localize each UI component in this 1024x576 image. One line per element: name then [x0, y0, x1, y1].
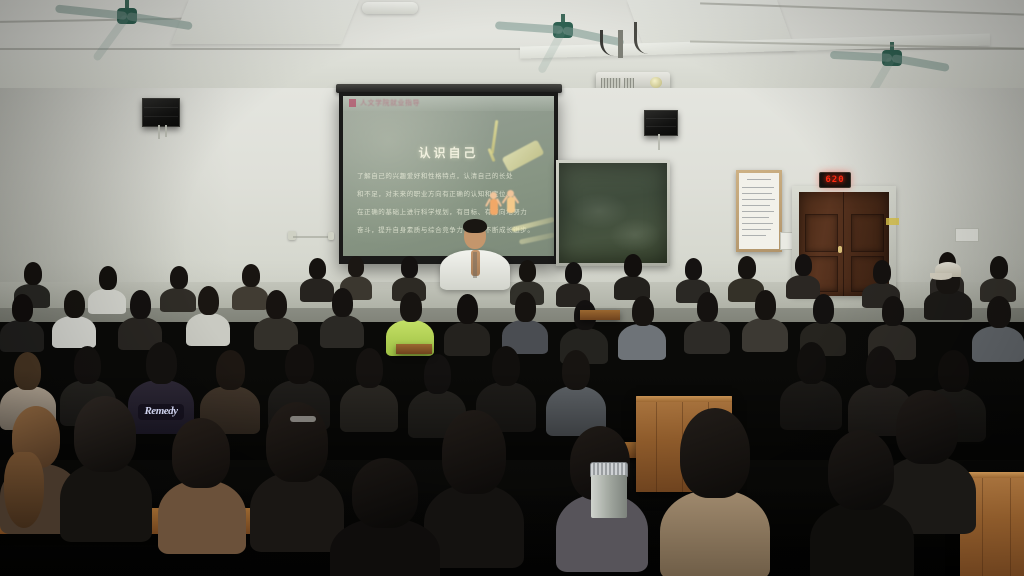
presenter-speaker — [440, 218, 510, 288]
notice-line — [742, 205, 770, 206]
student-white-cap — [924, 262, 972, 314]
thermos-body — [591, 475, 627, 518]
head — [285, 344, 314, 384]
head — [813, 294, 834, 324]
wall-speaker-left — [142, 98, 180, 127]
fan-blade — [891, 54, 950, 72]
torso — [618, 324, 666, 360]
head — [64, 290, 85, 318]
ceiling-fan-left — [62, 0, 192, 34]
led-exit-sign-text: 620 — [825, 175, 844, 185]
door-panel — [851, 214, 884, 252]
head — [866, 346, 896, 388]
wooden-bench-far — [396, 344, 432, 354]
head — [492, 346, 520, 386]
head — [216, 350, 245, 390]
speaker-stem — [158, 125, 160, 139]
head — [401, 256, 418, 278]
head — [738, 256, 756, 279]
audience-member — [186, 286, 230, 344]
presenter-collar — [473, 252, 477, 278]
head — [14, 352, 41, 390]
head — [266, 290, 287, 319]
audience-member — [618, 296, 666, 358]
head — [99, 266, 117, 290]
door-panel — [805, 214, 838, 252]
wooden-bench-far — [580, 310, 620, 320]
torso — [158, 480, 246, 554]
head — [130, 290, 151, 319]
notice-line — [742, 223, 773, 224]
head — [828, 430, 894, 510]
head — [990, 256, 1008, 279]
head — [24, 262, 42, 285]
slide-header-marker — [349, 99, 356, 107]
head — [873, 260, 891, 284]
head — [74, 396, 136, 472]
head — [442, 410, 506, 494]
slide-header-label: 人文学院就业指导 — [360, 98, 420, 108]
desk-grain — [656, 402, 657, 492]
audience-member — [810, 430, 914, 576]
wall-rod — [293, 236, 333, 238]
speaker-line — [144, 116, 177, 117]
notice-line — [742, 211, 774, 212]
head — [242, 264, 260, 287]
audience-member — [502, 292, 548, 352]
head — [356, 348, 383, 388]
torso — [340, 384, 398, 432]
head — [519, 260, 536, 282]
desk-grain — [1010, 478, 1011, 576]
yellow-wall-tag — [886, 218, 899, 225]
head — [882, 296, 904, 326]
chalk-smudge — [609, 218, 661, 252]
projector-cable — [600, 30, 629, 56]
head — [755, 290, 776, 320]
head — [565, 262, 582, 284]
fan-blade — [126, 12, 192, 30]
speaker-line — [144, 107, 177, 108]
cap-brim — [930, 273, 952, 280]
projector-lens — [650, 77, 662, 88]
notice-line — [747, 179, 771, 180]
head — [457, 294, 478, 324]
head — [198, 286, 219, 315]
head — [146, 342, 177, 384]
ceiling-light — [362, 2, 418, 14]
projector-vent — [624, 78, 634, 88]
torso — [0, 320, 44, 352]
audience-member — [556, 262, 590, 304]
head — [624, 254, 642, 277]
head — [74, 346, 101, 384]
head — [938, 350, 969, 392]
notice-line — [742, 199, 775, 200]
torso — [660, 490, 770, 576]
audience-member — [684, 292, 730, 352]
notice-line — [742, 187, 774, 188]
head — [797, 342, 826, 384]
head — [172, 418, 230, 488]
head — [987, 296, 1011, 328]
audience-member — [320, 288, 364, 346]
hair-clip — [290, 416, 316, 422]
audience-member — [444, 294, 490, 354]
desk-grain — [982, 478, 983, 576]
speaker-stem — [658, 134, 660, 150]
audience-member — [0, 294, 44, 350]
ponytail — [4, 452, 44, 528]
audience-member — [60, 396, 152, 536]
audience-member — [52, 290, 96, 346]
audience-member — [254, 290, 298, 348]
audience-area: Remedy — [0, 250, 1024, 576]
head — [562, 350, 590, 390]
head — [266, 402, 328, 482]
stainless-thermos — [590, 462, 628, 518]
head — [12, 294, 33, 322]
head — [795, 254, 812, 276]
head — [515, 292, 536, 322]
speaker-stem — [165, 125, 167, 137]
head — [680, 408, 750, 498]
head — [352, 458, 418, 528]
audience-member — [118, 290, 162, 348]
audience-member — [742, 290, 788, 350]
notice-line — [742, 229, 771, 230]
audience-member — [614, 254, 650, 298]
fan-blade — [55, 4, 127, 19]
audience-member — [340, 348, 398, 430]
torso — [924, 290, 972, 320]
audience-member — [786, 254, 820, 296]
head — [424, 354, 451, 394]
notice-line — [742, 193, 772, 194]
head — [309, 258, 326, 279]
chalkboard — [559, 163, 667, 263]
slide-body-line: 了解自己的兴趣爱好和性格特点，认清自己的长处 — [357, 170, 513, 180]
audience-member — [546, 350, 606, 434]
head — [332, 288, 353, 317]
head — [697, 292, 718, 322]
wall-hook — [328, 232, 334, 240]
notice-board — [736, 170, 782, 252]
notice-line — [742, 235, 766, 236]
audience-member — [158, 418, 246, 548]
projector-cable — [634, 22, 655, 54]
speaker-line — [646, 126, 675, 127]
audience-member — [780, 342, 842, 428]
audience-member — [330, 458, 440, 576]
notice-paper — [739, 173, 779, 249]
torso — [684, 320, 730, 354]
torso — [60, 462, 152, 542]
led-exit-sign: 620 — [819, 172, 851, 188]
audience-member — [980, 256, 1016, 300]
presenter-hair — [463, 219, 487, 233]
head — [632, 296, 654, 326]
head — [685, 258, 702, 280]
wall-speaker-right — [644, 110, 678, 136]
head — [400, 292, 422, 322]
wall-outlet-plate[interactable] — [955, 228, 979, 242]
torso — [810, 502, 914, 576]
lecture-hall-photo: 人文学院就业指导 认识自己 了解自己的兴趣爱好和性格特点，认清自己的长处 和不足… — [0, 0, 1024, 576]
speaker-line — [646, 118, 675, 119]
desk-top — [636, 396, 732, 402]
torso — [52, 316, 96, 348]
bar-illustration — [519, 232, 554, 244]
head — [348, 256, 364, 277]
notice-line — [742, 217, 768, 218]
slide-header-bar: 人文学院就业指导 — [343, 96, 554, 111]
torso — [780, 380, 842, 430]
ceiling-beam — [171, 0, 359, 44]
audience-member — [660, 408, 770, 576]
